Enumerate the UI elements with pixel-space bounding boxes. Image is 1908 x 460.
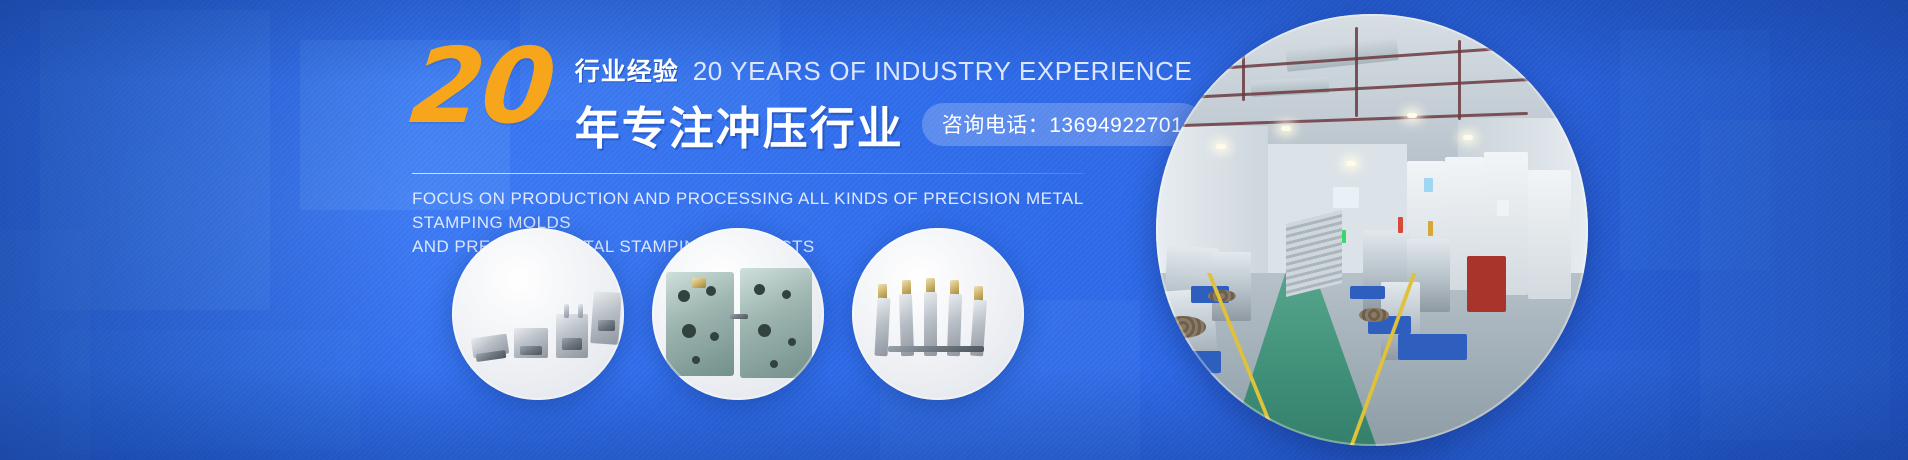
years-number: 20 (407, 42, 557, 131)
headline-block: 20 行业经验 20 YEARS OF INDUSTRY EXPERIENCE … (412, 42, 1112, 259)
headline-row: 20 行业经验 20 YEARS OF INDUSTRY EXPERIENCE … (412, 42, 1112, 157)
circle-edge (1156, 14, 1588, 446)
industry-experience-cn: 行业经验 (575, 52, 679, 88)
product-circle-mold[interactable] (652, 228, 824, 400)
headline-divider (412, 173, 1084, 174)
stamping-focus-cn: 年专注冲压行业 (575, 92, 904, 157)
industry-experience-en: 20 YEARS OF INDUSTRY EXPERIENCE (693, 56, 1193, 87)
circle-edge (652, 228, 824, 400)
headline-line-1: 行业经验 20 YEARS OF INDUSTRY EXPERIENCE (575, 52, 1204, 88)
factory-photo-circle[interactable] (1156, 14, 1588, 446)
circle-edge (852, 228, 1024, 400)
promo-banner: 20 行业经验 20 YEARS OF INDUSTRY EXPERIENCE … (0, 0, 1908, 460)
headline-text-group: 行业经验 20 YEARS OF INDUSTRY EXPERIENCE 年专注… (575, 42, 1204, 157)
headline-line-2: 年专注冲压行业 咨询电话：13694922701 (575, 92, 1204, 157)
circle-edge (452, 228, 624, 400)
product-circle-connectors[interactable] (452, 228, 624, 400)
product-circle-terminals[interactable] (852, 228, 1024, 400)
